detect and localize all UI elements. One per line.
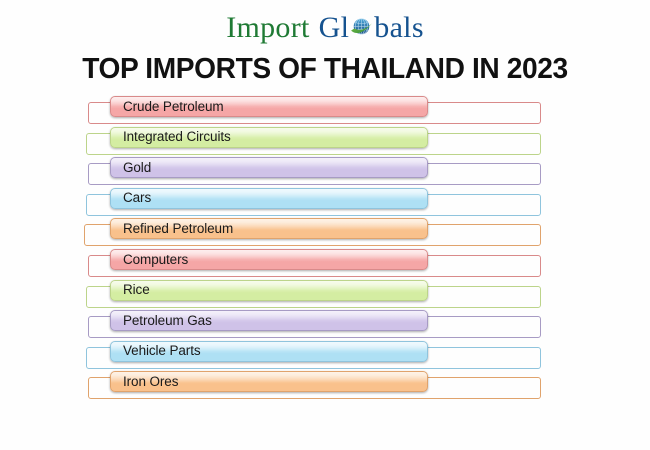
bar-label: Rice — [111, 282, 150, 298]
bar-fill[interactable]: Integrated Circuits — [110, 127, 428, 148]
page-title: TOP IMPORTS OF THAILAND IN 2023 — [10, 52, 641, 86]
bar-row[interactable]: Computers — [0, 249, 650, 280]
bar-row[interactable]: Cars — [0, 188, 650, 219]
bar-row[interactable]: Iron Ores — [0, 371, 650, 402]
bar-fill[interactable]: Crude Petroleum — [110, 96, 428, 117]
bar-row[interactable]: Gold — [0, 157, 650, 188]
globe-icon — [349, 14, 374, 39]
bar-fill[interactable]: Refined Petroleum — [110, 218, 428, 239]
bar-row[interactable]: Refined Petroleum — [0, 218, 650, 249]
horizontal-bar-chart: Crude PetroleumIntegrated CircuitsGoldCa… — [0, 96, 650, 408]
bar-fill[interactable]: Rice — [110, 280, 428, 301]
brand-logo-text: Import Gl — [226, 11, 424, 45]
bar-label: Vehicle Parts — [111, 343, 201, 359]
bar-fill[interactable]: Computers — [110, 249, 428, 270]
bar-label: Cars — [111, 190, 151, 206]
bar-fill[interactable]: Iron Ores — [110, 371, 428, 392]
bar-label: Computers — [111, 252, 188, 268]
bar-fill[interactable]: Vehicle Parts — [110, 341, 428, 362]
bar-label: Crude Petroleum — [111, 99, 224, 115]
infographic-canvas: Import Gl — [0, 0, 650, 450]
bar-label: Integrated Circuits — [111, 129, 231, 145]
brand-logo-bals-word: bals — [374, 11, 424, 45]
bar-label: Petroleum Gas — [111, 313, 212, 329]
bar-row[interactable]: Vehicle Parts — [0, 341, 650, 372]
bar-label: Iron Ores — [111, 374, 178, 390]
bar-fill[interactable]: Petroleum Gas — [110, 310, 428, 331]
bar-row[interactable]: Crude Petroleum — [0, 96, 650, 127]
brand-logo-gl-word: Gl — [319, 11, 350, 45]
bar-label: Gold — [111, 160, 151, 176]
bar-row[interactable]: Rice — [0, 280, 650, 311]
bar-row[interactable]: Integrated Circuits — [0, 127, 650, 158]
bar-fill[interactable]: Cars — [110, 188, 428, 209]
brand-logo: Import Gl — [0, 8, 650, 48]
bar-label: Refined Petroleum — [111, 221, 233, 237]
bar-row[interactable]: Petroleum Gas — [0, 310, 650, 341]
bar-fill[interactable]: Gold — [110, 157, 428, 178]
brand-logo-import-word: Import — [226, 11, 309, 45]
